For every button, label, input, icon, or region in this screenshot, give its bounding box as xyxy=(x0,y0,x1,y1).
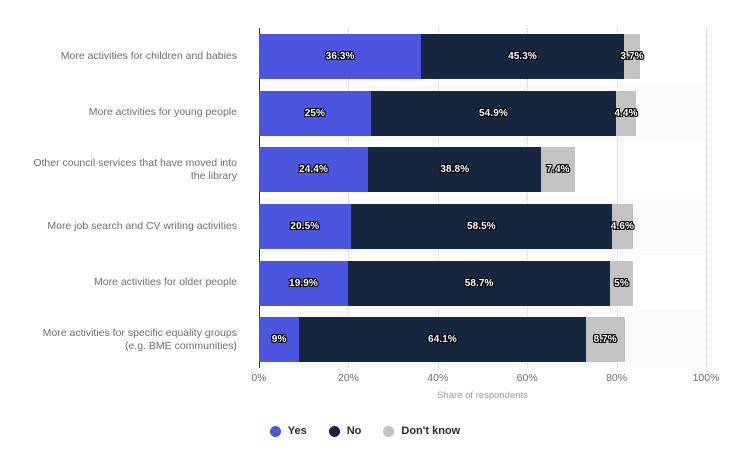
bar-segment-no[interactable]: 38.8% xyxy=(368,147,541,192)
bar-value-label: 9% xyxy=(272,334,287,345)
bar-value-label: 58.7% xyxy=(465,278,494,289)
bar-value-label: 5% xyxy=(614,278,629,289)
bar-value-label: 24.4% xyxy=(299,164,328,175)
bar-row[interactable]: 25%54.9%4.4% xyxy=(259,91,636,136)
bar-segment-yes[interactable]: 9% xyxy=(259,317,299,362)
bar-value-label: 3.7% xyxy=(620,51,643,62)
legend-label: Don't know xyxy=(401,425,460,437)
category-label: More activities for young people xyxy=(0,85,248,142)
bar-value-label: 4.4% xyxy=(614,108,637,119)
legend-label: Yes xyxy=(288,425,307,437)
bar-segment-don-t-know[interactable]: 8.7% xyxy=(586,317,625,362)
bar-segment-yes[interactable]: 20.5% xyxy=(259,204,351,249)
x-tick-label: 100% xyxy=(693,372,720,384)
bar-rows: 36.3%45.3%3.7%25%54.9%4.4%24.4%38.8%7.4%… xyxy=(259,28,706,368)
bar-segment-yes[interactable]: 25% xyxy=(259,91,371,136)
x-tick-label: 80% xyxy=(606,372,627,384)
bar-value-label: 20.5% xyxy=(290,221,319,232)
category-label: Other council services that have moved i… xyxy=(0,141,248,198)
x-tick-label: 40% xyxy=(427,372,448,384)
legend-item[interactable]: Don't know xyxy=(383,425,460,437)
bar-value-label: 64.1% xyxy=(428,334,457,345)
bar-segment-no[interactable]: 54.9% xyxy=(371,91,616,136)
bar-segment-don-t-know[interactable]: 7.4% xyxy=(541,147,574,192)
x-tick-label: 60% xyxy=(517,372,538,384)
x-tick-label: 0% xyxy=(251,372,266,384)
bar-row[interactable]: 24.4%38.8%7.4% xyxy=(259,147,575,192)
bar-segment-no[interactable]: 58.7% xyxy=(348,261,610,306)
bar-value-label: 25% xyxy=(305,108,325,119)
x-tick-label: 20% xyxy=(338,372,359,384)
bar-value-label: 7.4% xyxy=(546,164,569,175)
legend-item[interactable]: No xyxy=(329,425,362,437)
bar-value-label: 8.7% xyxy=(594,334,617,345)
category-axis: More activities for children and babiesM… xyxy=(0,28,248,368)
bar-value-label: 54.9% xyxy=(479,108,508,119)
bar-segment-yes[interactable]: 36.3% xyxy=(259,34,421,79)
bar-segment-no[interactable]: 45.3% xyxy=(421,34,623,79)
x-axis-title: Share of respondents xyxy=(259,390,706,401)
category-label: More activities for specific equality gr… xyxy=(0,311,248,368)
bar-row[interactable]: 20.5%58.5%4.6% xyxy=(259,204,633,249)
bar-segment-don-t-know[interactable]: 4.4% xyxy=(616,91,636,136)
bar-segment-don-t-know[interactable]: 5% xyxy=(610,261,632,306)
stacked-bar-chart: More activities for children and babiesM… xyxy=(0,0,730,473)
bar-segment-don-t-know[interactable]: 4.6% xyxy=(612,204,633,249)
bar-value-label: 4.6% xyxy=(611,221,634,232)
bar-value-label: 36.3% xyxy=(326,51,355,62)
bar-value-label: 58.5% xyxy=(467,221,496,232)
bar-segment-yes[interactable]: 19.9% xyxy=(259,261,348,306)
bar-value-label: 19.9% xyxy=(289,278,318,289)
legend-label: No xyxy=(347,425,362,437)
bar-segment-no[interactable]: 58.5% xyxy=(351,204,612,249)
category-label: More activities for children and babies xyxy=(0,28,248,85)
gridline-100 xyxy=(706,28,707,368)
category-label: More activities for older people xyxy=(0,255,248,312)
legend-swatch-icon xyxy=(383,426,394,437)
bar-value-label: 45.3% xyxy=(508,51,537,62)
bar-segment-don-t-know[interactable]: 3.7% xyxy=(624,34,641,79)
bar-segment-yes[interactable]: 24.4% xyxy=(259,147,368,192)
bar-row[interactable]: 36.3%45.3%3.7% xyxy=(259,34,640,79)
bar-segment-no[interactable]: 64.1% xyxy=(299,317,586,362)
plot-area: 36.3%45.3%3.7%25%54.9%4.4%24.4%38.8%7.4%… xyxy=(259,28,706,368)
bar-row[interactable]: 9%64.1%8.7% xyxy=(259,317,625,362)
legend-swatch-icon xyxy=(329,426,340,437)
category-label: More job search and CV writing activitie… xyxy=(0,198,248,255)
legend-swatch-icon xyxy=(270,426,281,437)
legend-item[interactable]: Yes xyxy=(270,425,307,437)
bar-value-label: 38.8% xyxy=(440,164,469,175)
x-axis-ticks: 0%20%40%60%80%100% xyxy=(259,372,706,388)
bar-row[interactable]: 19.9%58.7%5% xyxy=(259,261,633,306)
legend: YesNoDon't know xyxy=(0,425,730,437)
